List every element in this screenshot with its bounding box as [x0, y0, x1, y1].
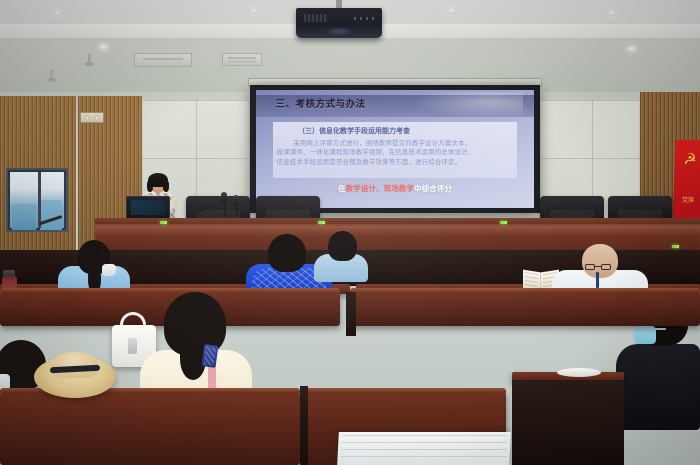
lanyard: [596, 272, 599, 288]
slide-footer-highlight-1: 教学设计、: [346, 184, 384, 193]
downlight-icon: [626, 46, 637, 52]
downlight-icon: [98, 44, 109, 50]
status-led: [672, 245, 679, 248]
attendee-hair: [328, 231, 357, 261]
slide-title: 三、考核方式与办法: [275, 96, 365, 110]
notebook-rules: [340, 435, 507, 462]
glasses-icon: [585, 264, 611, 270]
projection-screen: 三、考核方式与办法 （三）信息化教学手段运用能力考查 采用网上评审方式进行，围绕…: [250, 85, 540, 213]
presenter-hair-side: [163, 180, 169, 192]
podium-laptop: [126, 196, 170, 220]
status-led: [160, 221, 167, 224]
window-mullion: [38, 172, 41, 228]
presentation-slide: 三、考核方式与办法 （三）信息化教学手段运用能力考查 采用网上评审方式进行，围绕…: [256, 90, 534, 208]
slide-footer-prefix: 在: [338, 184, 346, 193]
slide-footer-suffix: 中综合评分: [414, 184, 452, 193]
podium-highlight: [95, 226, 700, 236]
bench-divider: [300, 386, 308, 465]
slide-body-line: 信息技术手段运用是否合理及教学效果等方面，进行综合评定。: [277, 158, 514, 168]
handbag-clasp: [128, 338, 137, 354]
projector-hotspot: [412, 92, 523, 118]
screen-surface: 三、考核方式与办法 （三）信息化教学手段运用能力考查 采用网上评审方式进行，围绕…: [256, 90, 534, 208]
attendee-hair: [268, 234, 306, 272]
bench-back: [350, 292, 700, 326]
emergency-exit-light: [80, 112, 104, 123]
slide-body: （三）信息化教学手段运用能力考查 采用网上评审方式进行，围绕教师提交的教学设计方…: [273, 122, 518, 179]
white-plate: [557, 368, 601, 377]
status-led: [318, 221, 325, 224]
ceiling-hook: [50, 70, 53, 79]
projector-lens-icon: [324, 28, 354, 37]
downlight-icon: [446, 8, 457, 14]
wall-seam: [540, 158, 640, 159]
exit-bulb-icon: [84, 115, 90, 121]
presenter-hair-side: [147, 180, 153, 192]
window-view: [12, 204, 36, 230]
ceiling-hook: [88, 54, 91, 63]
downlight-icon: [52, 10, 63, 16]
microphone-head-icon: [221, 192, 227, 202]
slide-footer: 在教学设计、现场教学中综合评分: [256, 183, 534, 194]
projector-vent: [304, 14, 328, 22]
glasses-lens: [601, 264, 611, 270]
attendee-head: [582, 244, 618, 278]
attendee-back-row-left: [314, 232, 368, 280]
microphone-head-icon: [233, 195, 239, 205]
projector-indicator-lights: [354, 17, 374, 20]
slide-footer-highlight-2: 现场教学: [384, 184, 414, 193]
attendee-torso: [616, 344, 700, 430]
ceiling-air-vent: [134, 53, 192, 67]
exit-bulb-icon: [94, 115, 100, 121]
face-mask: [102, 264, 116, 276]
flag-label: 党旗: [678, 196, 698, 205]
slide-subtitle: （三）信息化教学手段运用能力考查: [298, 126, 513, 136]
desk-front: [512, 380, 624, 465]
lecture-hall-photo: 三、考核方式与办法 （三）信息化教学手段运用能力考查 采用网上评审方式进行，围绕…: [0, 0, 700, 465]
ceiling-projector: [296, 8, 382, 38]
glasses-lens: [585, 264, 595, 270]
slide-body-line: 采用网上评审方式进行，围绕教师提交的教学设计方案文本、: [277, 139, 514, 149]
hammer-sickle-icon: ☭: [682, 152, 698, 168]
blue-surgical-mask: [634, 326, 656, 344]
attendee-light-blue-top: [58, 240, 130, 292]
downlight-icon: [248, 8, 259, 14]
bench-divider: [346, 292, 356, 336]
downlight-icon: [606, 10, 617, 16]
open-notebook: [337, 432, 511, 465]
ceiling-air-vent: [222, 53, 262, 66]
mask-strap: [654, 328, 666, 330]
bench-back: [0, 392, 300, 465]
side-window: [6, 168, 68, 232]
status-led: [500, 221, 507, 224]
slide-body-line: 授课课件、一体化课程现场教学视频，在信息技术运用的总体设计、: [277, 148, 514, 158]
